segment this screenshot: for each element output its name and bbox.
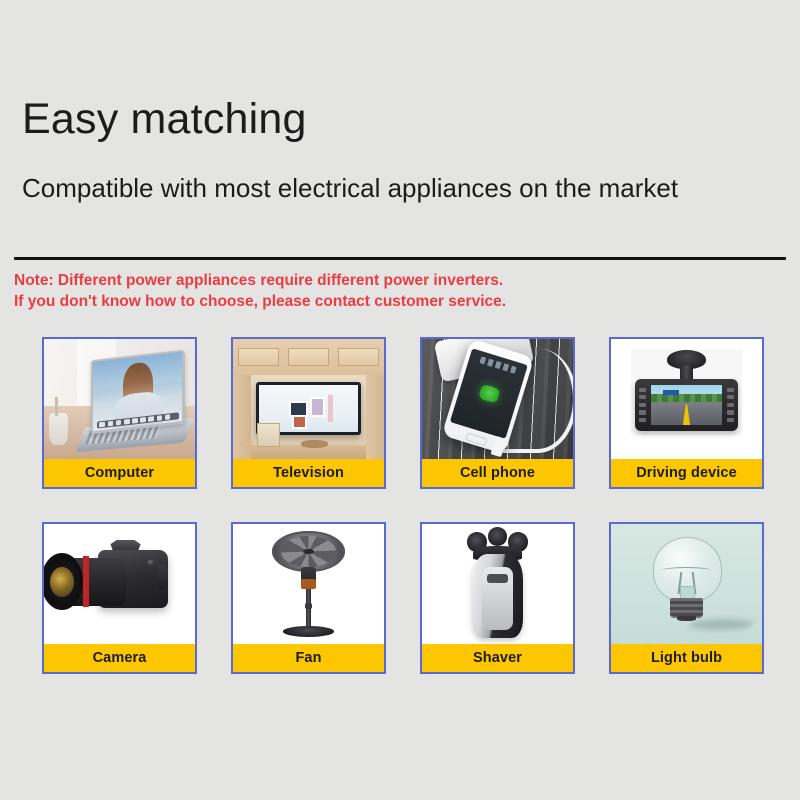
appliance-label: Computer	[44, 459, 195, 487]
appliance-card-light-bulb[interactable]: Light bulb	[609, 522, 764, 674]
note-line-2: If you don't know how to choose, please …	[14, 291, 614, 312]
appliance-label: Television	[233, 459, 384, 487]
appliance-card-driving-device[interactable]: Driving device	[609, 337, 764, 489]
driving-device-photo	[611, 339, 762, 459]
television-photo	[233, 339, 384, 459]
note-line-1: Note: Different power appliances require…	[14, 270, 614, 291]
cell-phone-photo	[422, 339, 573, 459]
page-title: Easy matching	[22, 96, 778, 143]
shaver-photo	[422, 524, 573, 644]
computer-photo	[44, 339, 195, 459]
page-subtitle: Compatible with most electrical applianc…	[22, 173, 778, 204]
header-divider	[14, 257, 786, 260]
appliance-label: Shaver	[422, 644, 573, 672]
appliance-card-shaver[interactable]: Shaver	[420, 522, 575, 674]
appliance-label: Cell phone	[422, 459, 573, 487]
appliance-card-cell-phone[interactable]: Cell phone	[420, 337, 575, 489]
appliance-card-television[interactable]: Television	[231, 337, 386, 489]
appliance-card-computer[interactable]: Computer	[42, 337, 197, 489]
appliance-label: Driving device	[611, 459, 762, 487]
appliance-grid: Computer Television	[42, 337, 764, 674]
appliance-label: Fan	[233, 644, 384, 672]
appliance-label: Camera	[44, 644, 195, 672]
light-bulb-photo	[611, 524, 762, 644]
header-block: Easy matching Compatible with most elect…	[22, 96, 778, 204]
appliance-label: Light bulb	[611, 644, 762, 672]
appliance-card-fan[interactable]: Fan	[231, 522, 386, 674]
note-block: Note: Different power appliances require…	[14, 270, 614, 312]
fan-photo	[233, 524, 384, 644]
camera-photo	[44, 524, 195, 644]
appliance-card-camera[interactable]: Camera	[42, 522, 197, 674]
